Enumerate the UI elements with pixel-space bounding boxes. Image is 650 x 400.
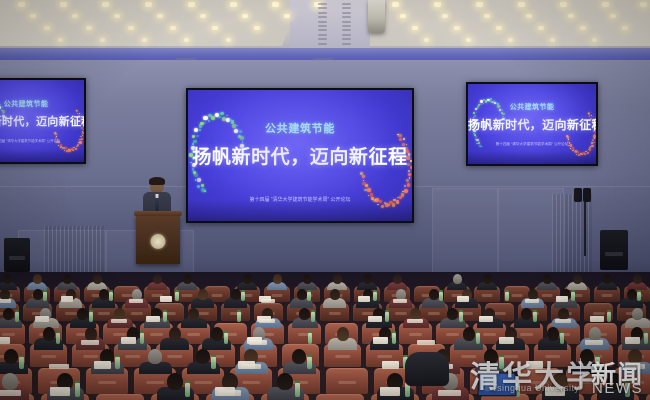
- downlight-icon: [30, 14, 36, 18]
- audience-person-head: [85, 327, 97, 341]
- bottle-cap: [163, 310, 167, 312]
- name-card: [368, 316, 382, 322]
- downlight-icon: [602, 2, 609, 7]
- downlight-icon: [518, 2, 525, 7]
- bottle-cap: [109, 290, 112, 292]
- downlight-icon: [592, 38, 597, 42]
- projector-rail: [342, 12, 351, 14]
- decor-dot: [197, 185, 200, 188]
- water-bottle: [625, 383, 630, 397]
- decor-dot: [490, 98, 492, 100]
- downlight-icon: [550, 38, 555, 42]
- audience-person-head: [33, 274, 42, 284]
- downlight-icon: [580, 26, 586, 30]
- bottle-cap: [476, 331, 480, 333]
- decor-dot: [362, 182, 366, 186]
- seat-notch: [97, 312, 109, 315]
- seat-notch: [150, 333, 164, 336]
- downlight-icon: [466, 38, 471, 42]
- audience-person-head: [169, 327, 181, 341]
- auditorium-seat: [326, 368, 368, 394]
- audience-person-head: [483, 274, 492, 284]
- seat-notch: [377, 355, 393, 358]
- decor-dot: [476, 112, 477, 113]
- downlight-icon: [560, 2, 567, 7]
- bottle-cap: [307, 355, 312, 357]
- downlight-icon: [284, 14, 290, 18]
- name-card: [625, 337, 641, 344]
- slide-headline: 扬帆新时代，迈向新征程: [188, 142, 412, 169]
- laptop-screen-content: [485, 377, 497, 391]
- seat-notch: [187, 333, 201, 336]
- decor-dot: [197, 178, 201, 182]
- water-bottle: [439, 292, 442, 301]
- decor-dot: [218, 116, 221, 119]
- paper-handout: [393, 299, 407, 303]
- downlight-icon: [640, 2, 647, 7]
- paper-handout: [407, 319, 423, 323]
- decor-dot: [362, 175, 366, 179]
- podium-top: [134, 211, 182, 216]
- downlight-icon: [538, 26, 544, 30]
- screen-shade: [0, 149, 84, 162]
- water-bottle: [237, 312, 241, 322]
- bottle-cap: [237, 310, 241, 312]
- audience-person-head: [188, 308, 199, 320]
- paper-handout: [241, 364, 261, 369]
- subwoofer-right: [600, 230, 628, 270]
- bottle-cap: [19, 355, 24, 357]
- seat-notch: [461, 355, 477, 358]
- downlight-icon: [230, 2, 237, 7]
- water-bottle: [185, 383, 190, 397]
- name-card: [61, 296, 73, 302]
- audience-person-head: [148, 349, 162, 364]
- seat-notch: [338, 381, 356, 384]
- downlight-icon: [44, 26, 50, 30]
- speaker-head-right-2: [583, 188, 591, 202]
- paper-handout: [625, 364, 645, 369]
- audience-person-head: [292, 349, 306, 364]
- decor-dot: [572, 147, 574, 149]
- downlight-icon: [454, 26, 460, 30]
- paper-handout: [49, 364, 69, 369]
- decor-dot: [220, 112, 223, 115]
- water-bottle: [295, 383, 300, 397]
- water-bottle: [595, 357, 600, 369]
- water-bottle: [109, 292, 112, 301]
- seat-notch: [409, 333, 423, 336]
- seat-notch: [242, 381, 260, 384]
- decor-dot: [56, 136, 57, 137]
- bottle-cap: [392, 331, 396, 333]
- name-card: [0, 337, 10, 344]
- audience-person-head: [2, 373, 18, 390]
- name-card: [499, 337, 515, 344]
- seat-notch: [98, 381, 116, 384]
- subwoofer-port: [9, 256, 25, 260]
- decor-dot: [60, 144, 62, 146]
- slide-title: 公共建筑节能: [0, 99, 84, 109]
- downlight-icon: [424, 38, 429, 42]
- decor-dot: [494, 100, 495, 101]
- decor-dot: [407, 183, 410, 186]
- downlight-icon: [434, 2, 441, 7]
- downlight-icon: [58, 38, 63, 42]
- seat-notch: [182, 294, 193, 297]
- seat-notch: [483, 333, 497, 336]
- projector-rail: [342, 3, 351, 5]
- downlight-icon: [400, 14, 406, 18]
- audience-person-head: [243, 274, 252, 284]
- bottle-cap: [175, 290, 178, 292]
- bottle-cap: [439, 290, 442, 292]
- screen-shade: [468, 151, 596, 164]
- audience-person-head: [393, 274, 402, 284]
- slide-title: 公共建筑节能: [468, 102, 596, 112]
- paper-handout: [261, 299, 275, 303]
- audience-person-head: [99, 289, 109, 300]
- ceiling-center-plane: [290, 0, 370, 52]
- projector-rail: [342, 21, 351, 23]
- audience-person-head: [429, 289, 439, 300]
- water-bottle: [373, 292, 376, 301]
- bottle-cap: [459, 310, 463, 312]
- bottle-cap: [308, 331, 312, 333]
- water-bottle: [533, 312, 537, 322]
- downlight-icon: [184, 38, 189, 42]
- speaker-head-right: [574, 188, 582, 202]
- bottle-cap: [241, 290, 244, 292]
- seat-notch: [602, 294, 613, 297]
- name-card: [50, 387, 70, 396]
- audience-person-head: [573, 274, 582, 284]
- name-card: [380, 387, 400, 396]
- bottle-cap: [56, 331, 60, 333]
- seat-notch: [328, 312, 340, 315]
- bottle-cap: [644, 331, 648, 333]
- audience-person-head: [453, 274, 462, 284]
- audience-person-head: [198, 289, 208, 300]
- downlight-icon: [242, 14, 248, 18]
- downlight-icon: [476, 2, 483, 7]
- audience-person-head: [633, 274, 642, 284]
- decor-dot: [54, 132, 56, 134]
- backpack: [405, 352, 449, 386]
- paper-handout: [259, 319, 275, 323]
- downlight-icon: [272, 2, 279, 7]
- presenter-tie: [155, 198, 159, 211]
- water-bottle: [311, 312, 315, 322]
- screen-shade: [188, 200, 412, 221]
- podium-emblem-icon: [151, 234, 166, 249]
- audience-person-head: [333, 274, 342, 284]
- watermark-divider: [580, 358, 581, 388]
- decor-dot: [404, 185, 406, 187]
- downlight-icon: [102, 2, 109, 7]
- audience-person-head: [4, 349, 18, 364]
- audience-person-head: [211, 327, 223, 341]
- name-card: [373, 337, 389, 344]
- audience-person-head: [303, 274, 312, 284]
- bottle-cap: [115, 355, 120, 357]
- audience-person-head: [447, 308, 458, 320]
- audience-person-head: [167, 373, 183, 390]
- projector-rail: [318, 38, 327, 40]
- paper-handout: [525, 299, 539, 303]
- seat-notch: [394, 312, 406, 315]
- paper-handout: [417, 340, 435, 345]
- downlight-icon: [526, 14, 532, 18]
- name-card: [160, 296, 172, 302]
- name-card: [545, 387, 565, 396]
- decor-dot: [403, 138, 406, 141]
- water-bottle: [140, 333, 144, 344]
- name-card: [590, 316, 604, 322]
- projector-rail: [342, 38, 351, 40]
- downlight-icon: [484, 14, 490, 18]
- audience-person-head: [277, 373, 293, 390]
- bottle-cap: [607, 310, 611, 312]
- decor-dot: [474, 134, 476, 136]
- bottle-cap: [505, 290, 508, 292]
- audience-person-head: [628, 349, 642, 364]
- water-bottle: [43, 292, 46, 301]
- water-bottle: [224, 333, 228, 344]
- seat-notch: [335, 355, 351, 358]
- projector-rail: [318, 3, 327, 5]
- paper-handout: [585, 340, 603, 345]
- water-bottle: [241, 292, 244, 301]
- slide-headline: 扬帆新时代，迈向新征程: [0, 113, 84, 129]
- downlight-icon: [60, 2, 67, 7]
- bottle-cap: [571, 290, 574, 292]
- seat-notch: [167, 355, 183, 358]
- downlight-icon: [188, 2, 195, 7]
- audience-person-head: [603, 274, 612, 284]
- bottle-cap: [373, 290, 376, 292]
- decor-dot: [594, 138, 595, 139]
- audience-person-head: [231, 289, 241, 300]
- right-screen: 公共建筑节能 扬帆新时代，迈向新征程 第十四届 “清华大学建筑节能学术周” 公开…: [466, 82, 598, 166]
- name-card: [146, 316, 160, 322]
- name-card: [94, 361, 112, 369]
- name-card: [556, 296, 568, 302]
- projector-rail: [318, 16, 327, 18]
- water-bottle: [476, 333, 480, 344]
- projector-rail: [342, 43, 351, 45]
- podium: [136, 214, 180, 264]
- audience-person-head: [521, 308, 532, 320]
- audience-person-head: [43, 327, 55, 341]
- bottle-cap: [560, 331, 564, 333]
- decor-dot: [408, 173, 412, 177]
- decor-dot: [73, 147, 74, 148]
- name-card: [382, 361, 400, 369]
- paper-handout: [0, 390, 21, 396]
- decor-dot: [240, 136, 244, 140]
- decor-dot: [408, 170, 410, 172]
- decor-dot: [360, 172, 363, 175]
- downlight-icon: [157, 14, 163, 18]
- audience-person-head: [183, 274, 192, 284]
- audience-person-head: [580, 349, 594, 364]
- audience-person-head: [63, 274, 72, 284]
- projector-rail: [342, 16, 351, 18]
- bottle-cap: [385, 310, 389, 312]
- seat-notch: [41, 355, 57, 358]
- seat-notch: [83, 355, 99, 358]
- decor-dot: [82, 135, 83, 136]
- slide-headline: 扬帆新时代，迈向新征程: [468, 116, 596, 133]
- water-bottle: [505, 292, 508, 301]
- water-bottle: [308, 333, 312, 344]
- bottle-cap: [625, 381, 630, 383]
- audience-person-head: [543, 274, 552, 284]
- audience-person-head: [3, 274, 12, 284]
- projector-rail: [342, 25, 351, 27]
- left-screen-surface: 公共建筑节能 扬帆新时代，迈向新征程 第十四届 “清华大学建筑节能学术周” 公开…: [0, 80, 84, 162]
- name-card: [457, 296, 469, 302]
- bottle-cap: [499, 355, 504, 357]
- downlight-icon: [568, 14, 574, 18]
- seat-notch: [212, 294, 223, 297]
- audience-person-head: [299, 308, 310, 320]
- paper-handout: [249, 340, 267, 345]
- bottle-cap: [15, 310, 19, 312]
- downlight-icon: [392, 2, 399, 7]
- audience-person-head: [330, 289, 340, 300]
- downlight-icon: [170, 26, 176, 30]
- downlight-icon: [496, 26, 502, 30]
- downlight-icon: [508, 38, 513, 42]
- water-bottle: [560, 333, 564, 344]
- seat-notch: [520, 333, 534, 336]
- projector-rail: [342, 34, 351, 36]
- paper-handout: [129, 299, 143, 303]
- seat-notch: [146, 381, 164, 384]
- water-bottle: [571, 292, 574, 301]
- projector-rail: [318, 34, 327, 36]
- water-bottle: [163, 312, 167, 322]
- presenter-hair: [149, 177, 165, 185]
- ceiling-projector-icon: [368, 0, 385, 33]
- bottle-cap: [185, 381, 190, 383]
- projector-rail: [318, 12, 327, 14]
- right-screen-surface: 公共建筑节能 扬帆新时代，迈向新征程 第十四届 “清华大学建筑节能学术周” 公开…: [468, 84, 596, 164]
- name-card: [121, 337, 137, 344]
- seat-notch: [2, 333, 16, 336]
- water-bottle: [56, 333, 60, 344]
- auditorium-seat: [646, 394, 650, 400]
- audience-person-head: [484, 349, 498, 364]
- downlight-icon: [200, 14, 206, 18]
- decor-dot: [195, 179, 196, 180]
- decor-dot: [367, 188, 371, 192]
- seat-notch: [482, 294, 493, 297]
- seat-notch: [113, 333, 127, 336]
- decor-dot: [568, 139, 569, 140]
- bottle-cap: [533, 310, 537, 312]
- downlight-icon: [442, 14, 448, 18]
- projector-rail: [318, 43, 327, 45]
- decor-dot: [76, 110, 78, 112]
- subwoofer-left: [4, 238, 30, 272]
- downlight-icon: [18, 2, 25, 7]
- paper-handout: [438, 390, 461, 396]
- bottle-cap: [75, 381, 80, 383]
- decor-dot: [476, 139, 478, 141]
- bottle-cap: [295, 381, 300, 383]
- slide-subtitle: 第十四届 “清华大学建筑节能学术周” 公开论坛: [468, 142, 596, 147]
- decor-dot: [60, 146, 62, 148]
- audience-person-head: [632, 308, 643, 320]
- water-bottle: [637, 292, 640, 301]
- seat-notch: [530, 381, 548, 384]
- bottle-cap: [224, 331, 228, 333]
- decor-dot: [404, 189, 408, 193]
- seat-notch: [545, 355, 561, 358]
- projector-rail: [318, 25, 327, 27]
- seat-notch: [446, 333, 460, 336]
- seat-notch: [592, 312, 604, 315]
- water-bottle: [385, 312, 389, 322]
- audience-person-head: [196, 349, 210, 364]
- water-bottle: [19, 357, 24, 369]
- center-screen: 公共建筑节能 扬帆新时代，迈向新征程 第十四届 “清华大学建筑节能学术周” 公开…: [186, 88, 414, 223]
- water-bottle: [392, 333, 396, 344]
- downlight-icon: [142, 38, 147, 42]
- water-bottle: [75, 383, 80, 397]
- laptop: [477, 373, 516, 397]
- speaker-stand-right: [584, 196, 586, 256]
- auditorium-photo: 公共建筑节能 扬帆新时代，迈向新征程 第十四届 “清华大学建筑节能学术周” 公开…: [0, 0, 650, 400]
- downlight-icon: [622, 26, 628, 30]
- audience-person-head: [33, 289, 43, 300]
- audience-area: [0, 272, 650, 400]
- bottle-cap: [311, 310, 315, 312]
- water-bottle: [175, 292, 178, 301]
- seat-notch: [542, 294, 553, 297]
- paper-handout: [555, 319, 571, 323]
- decor-dot: [409, 177, 411, 179]
- paper-handout: [0, 299, 11, 303]
- seat-notch: [512, 294, 523, 297]
- bottle-cap: [43, 290, 46, 292]
- audience-person-head: [589, 327, 601, 341]
- decor-dot: [226, 115, 228, 117]
- downlight-icon: [72, 14, 78, 18]
- downlight-icon: [412, 26, 418, 30]
- downlight-icon: [86, 26, 92, 30]
- auditorium-seat: [316, 394, 364, 400]
- seat-notch: [64, 312, 76, 315]
- seat-notch: [272, 294, 283, 297]
- seat-notch: [194, 381, 212, 384]
- bottle-cap: [211, 355, 216, 357]
- water-bottle: [307, 292, 310, 301]
- decor-dot: [363, 180, 364, 181]
- seat-notch: [361, 312, 373, 315]
- water-bottle: [307, 357, 312, 369]
- downlight-icon: [128, 26, 134, 30]
- seat-notch: [493, 312, 505, 315]
- paper-handout: [81, 340, 99, 345]
- name-card: [35, 316, 49, 322]
- downlight-icon: [610, 14, 616, 18]
- seat-notch: [130, 312, 142, 315]
- downlight-icon: [254, 26, 260, 30]
